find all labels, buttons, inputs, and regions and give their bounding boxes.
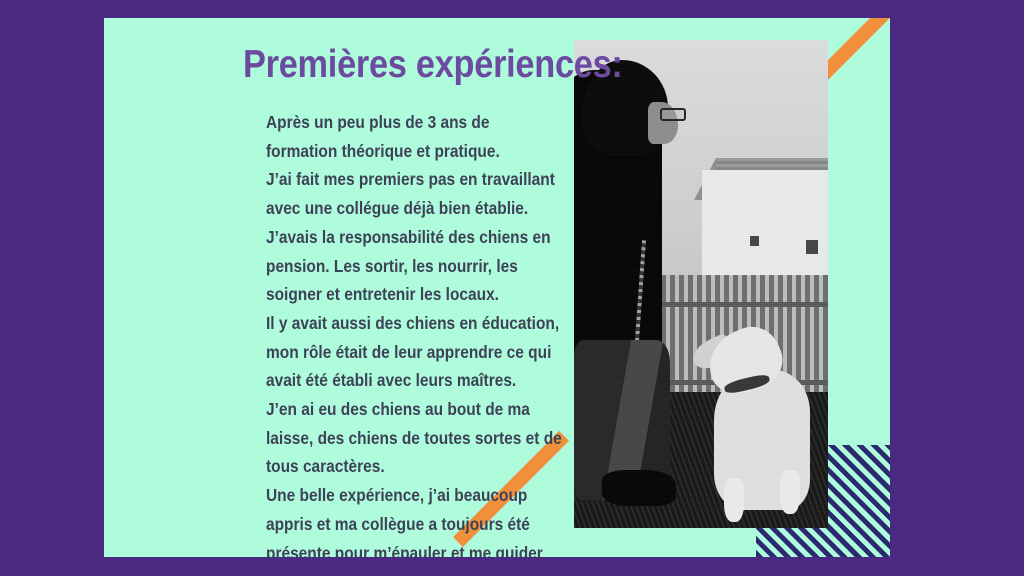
photo-person-boot xyxy=(602,470,676,506)
photo-dog-leg xyxy=(780,470,800,514)
photo-house xyxy=(702,170,828,280)
paragraph: J’en ai eu des chiens au bout de ma lais… xyxy=(266,395,563,481)
paragraph: J’ai fait mes premiers pas en travaillan… xyxy=(266,165,563,222)
paragraph: J’avais la responsabilité des chiens en … xyxy=(266,223,563,309)
page-title: Premières expériences: xyxy=(243,45,623,86)
content-card: Premières expériences: Après un peu plus… xyxy=(104,18,890,557)
photo-house-window xyxy=(806,240,818,254)
slide: Premières expériences: Après un peu plus… xyxy=(0,0,1024,576)
body-text: Après un peu plus de 3 ans de formation … xyxy=(266,108,563,557)
paragraph: Il y avait aussi des chiens en éducation… xyxy=(266,309,563,395)
photo-fence-rail xyxy=(634,302,828,307)
paragraph: Une belle expérience, j’ai beaucoup appr… xyxy=(266,481,563,557)
photo-person-with-dog xyxy=(574,40,828,528)
paragraph: Après un peu plus de 3 ans de formation … xyxy=(266,108,563,165)
photo-person-glasses xyxy=(660,108,686,121)
photo-house-window xyxy=(750,236,759,246)
photo-dog-leg xyxy=(724,478,744,522)
